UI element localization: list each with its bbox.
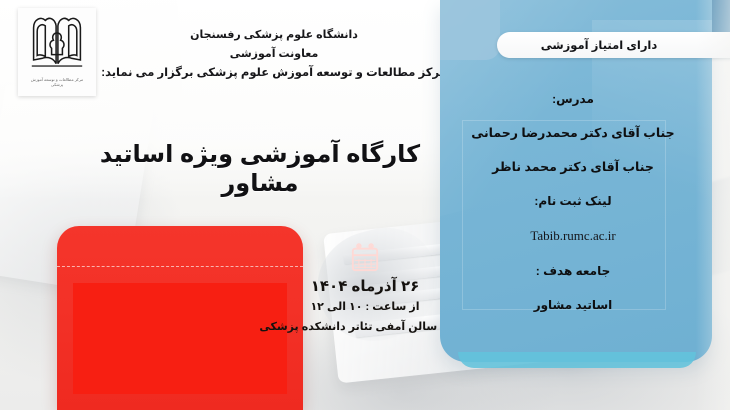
status-badge: دارای امتیاز آموزشی: [497, 32, 730, 58]
registration-label: لینک ثبت نام:: [448, 184, 698, 218]
status-badge-label: دارای امتیاز آموزشی: [541, 38, 704, 52]
blue-corner-accent: [440, 0, 500, 60]
instructor-name-1: جناب آقای دکتر محمدرضا رحمانی: [448, 116, 698, 150]
calendar-icon: [350, 243, 380, 273]
university-logo: مرکز مطالعات و توسعه آموزش پزشکی: [18, 8, 96, 96]
open-book-icon: [30, 13, 84, 71]
header-line-university: دانشگاه علوم پزشکی رفسنجان: [100, 26, 448, 45]
header-line-deputy: معاونت آموزشی: [100, 45, 448, 64]
details-content: مدرس: جناب آقای دکتر محمدرضا رحمانی جناب…: [448, 82, 698, 322]
audience-label: جامعه هدف :: [448, 254, 698, 288]
page-title: کارگاه آموزشی ویژه اساتید مشاور: [60, 140, 460, 198]
instructor-label: مدرس:: [448, 82, 698, 116]
instructor-name-2: جناب آقای دکتر محمد ناظر: [448, 150, 698, 184]
blue-footer-strip: [458, 352, 696, 368]
poster-root: مرکز مطالعات و توسعه آموزش پزشکی دانشگاه…: [0, 0, 730, 410]
organization-header: دانشگاه علوم پزشکی رفسنجان معاونت آموزشی…: [100, 26, 448, 83]
registration-link[interactable]: Tabib.rumc.ac.ir: [448, 218, 698, 254]
logo-caption: مرکز مطالعات و توسعه آموزش پزشکی: [27, 73, 87, 91]
card-dashed-divider: [57, 266, 303, 267]
audience-value: اساتید مشاور: [448, 288, 698, 322]
header-line-center: مرکز مطالعات و توسعه آموزش علوم پزشکی بر…: [100, 64, 448, 83]
